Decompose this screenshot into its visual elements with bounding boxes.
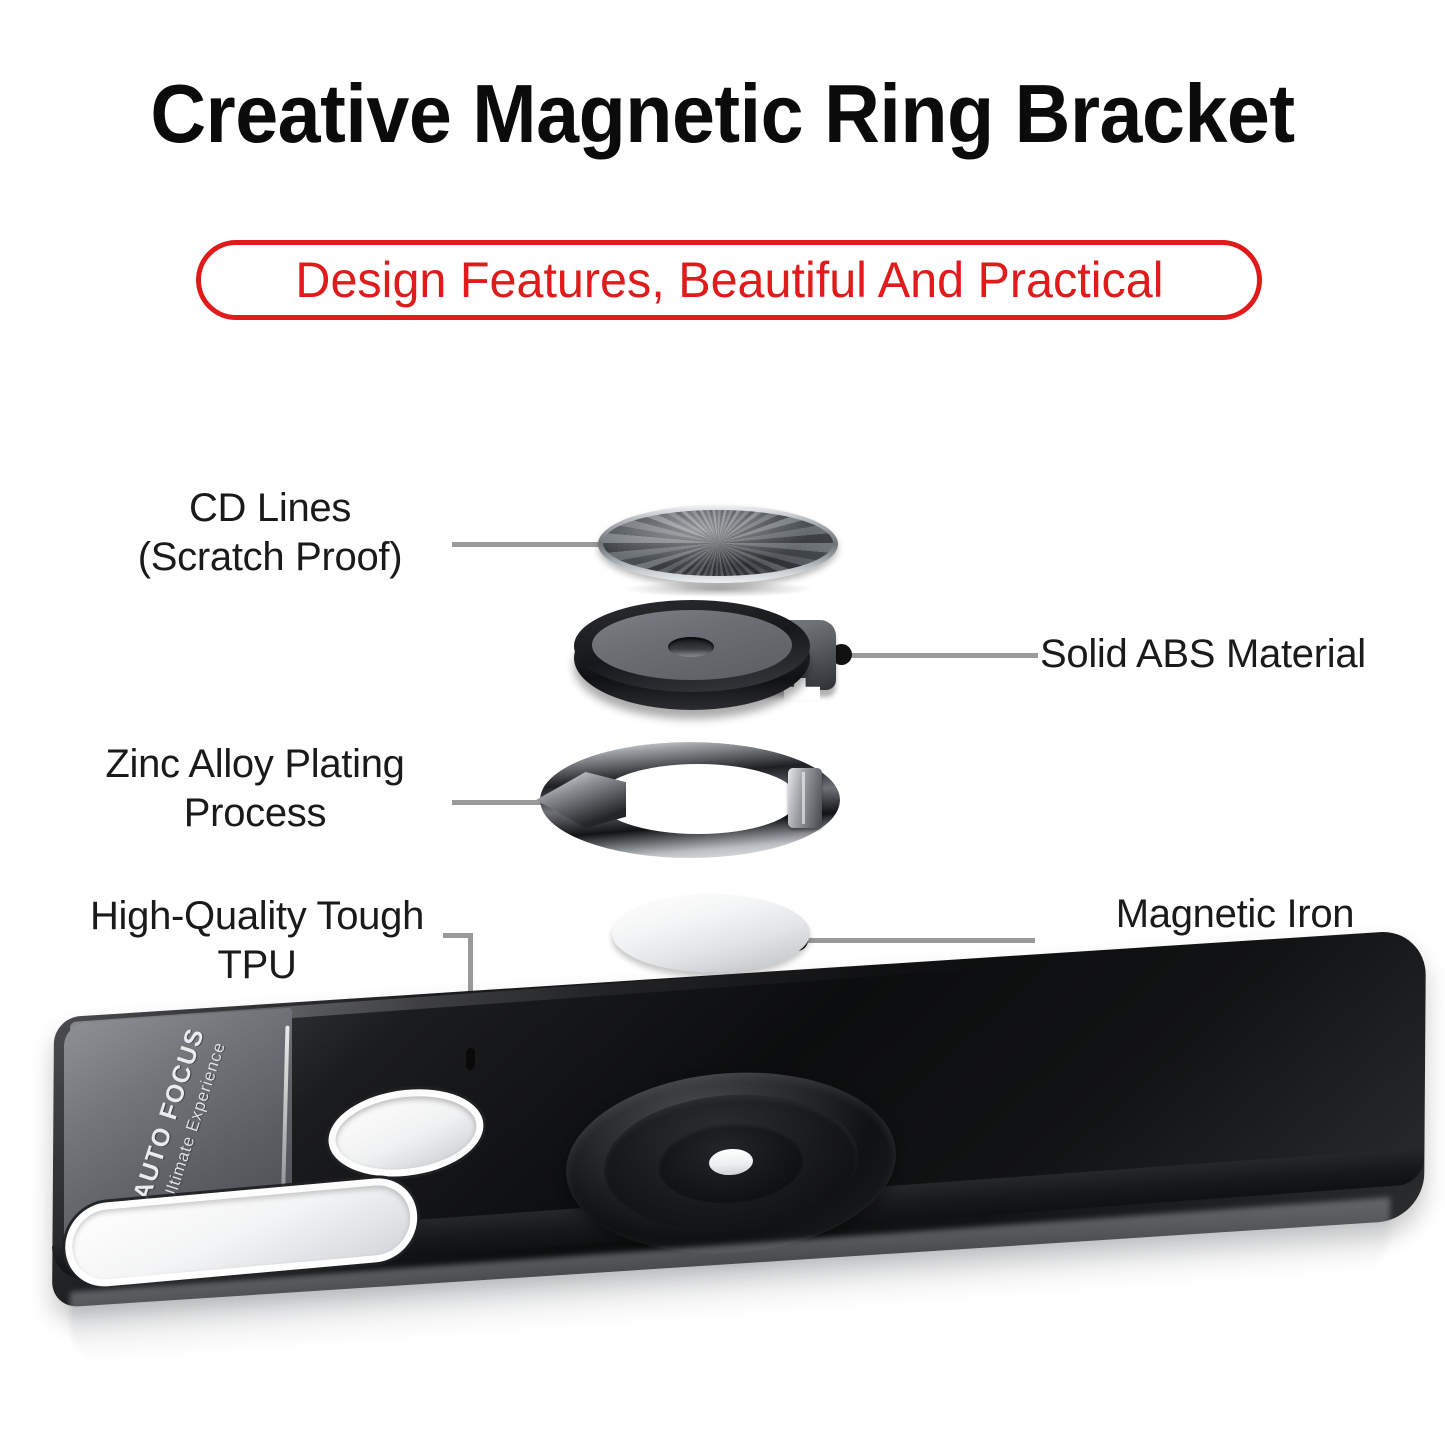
part-magnetic-iron-sheet [612,894,810,982]
magnet-plate-face [612,894,810,972]
subtitle-text: Design Features, Beautiful And Practical [295,251,1163,309]
callout-label-high-quality-tough-tpu: High-Quality Tough TPU [22,892,492,990]
cd-disc-shadow [626,581,812,597]
leader-line-cd-lines [452,542,620,547]
case-ring-holder-assembly [566,1064,896,1261]
ring-inner-hole [598,764,798,834]
callout-label-zinc-alloy-plating: Zinc Alloy Plating Process [20,740,490,838]
ring-hinge-bracket [788,768,822,828]
case-microphone-hole [466,1048,475,1071]
leader-line-solid-abs [840,653,1038,658]
callout-label-cd-lines: CD Lines (Scratch Proof) [35,484,505,582]
part-zinc-alloy-ring [540,742,858,868]
phone-case: AUTO FOCUS Ultimate Experience [30,1000,1430,1340]
ring-hinge-highlight [802,772,805,824]
page-title: Creative Magnetic Ring Bracket [51,66,1395,162]
part-cd-lines-disc [598,505,838,583]
leader-line-magnetic-sheet [795,938,1035,943]
part-abs-base [560,598,860,734]
callout-label-solid-abs-material: Solid ABS Material [1040,630,1445,679]
product-infographic: Creative Magnetic Ring Bracket Design Fe… [0,0,1445,1445]
abs-center-hole [668,637,714,657]
subtitle-badge: Design Features, Beautiful And Practical [196,240,1262,320]
cd-disc-radial-texture [603,510,833,576]
